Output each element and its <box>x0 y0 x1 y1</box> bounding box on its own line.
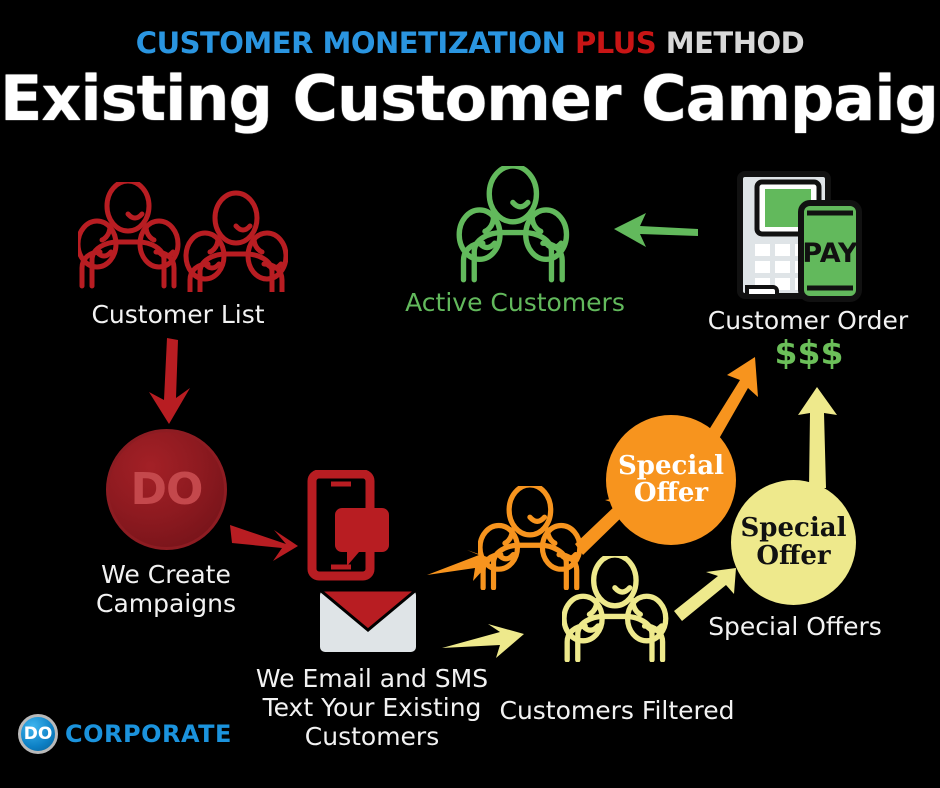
special-offers-caption: Special Offers <box>680 612 910 641</box>
arrow-offers-to-order <box>795 385 839 494</box>
special-offer-badge-yellow[interactable]: Special Offer <box>731 480 856 605</box>
badge-yellow-line-1: Special <box>741 515 847 542</box>
do-coin-badge: DO <box>106 429 227 550</box>
badge-orange-line-2: Offer <box>618 480 724 507</box>
email-sms-group <box>298 470 428 655</box>
badge-orange-line-1: Special <box>618 453 724 480</box>
arrow-order-to-active <box>610 205 700 255</box>
pos-terminal-icon: PAY <box>733 166 883 306</box>
people-green-icon <box>455 166 575 284</box>
logo-mark: DO <box>18 714 58 754</box>
kicker-segment-red: PLUS <box>575 26 666 60</box>
page-title: Existing Customer Campaigns <box>0 62 940 135</box>
email-sms-line-1: We Email and SMS <box>222 664 522 693</box>
infographic-canvas: CUSTOMER MONETIZATION PLUS METHOD Existi… <box>0 0 940 788</box>
do-corporate-logo[interactable]: DO CORPORATE <box>18 714 232 754</box>
phone-sms-envelope-icon <box>298 470 428 655</box>
customer-order-caption: Customer Order <box>688 306 928 335</box>
customer-list-caption: Customer List <box>58 300 298 329</box>
customer-list-group <box>78 182 288 292</box>
dollars-label: $$$ <box>766 333 852 372</box>
badge-yellow-line-2: Offer <box>741 543 847 570</box>
customer-order-group: PAY <box>733 166 883 306</box>
people-yellow-icon <box>562 556 672 662</box>
filtered-customers-group <box>562 556 672 662</box>
special-offer-badge-orange[interactable]: Special Offer <box>606 415 736 545</box>
email-sms-line-3: Customers <box>222 722 522 751</box>
kicker-segment-grey: METHOD <box>666 26 804 60</box>
customers-filtered-caption: Customers Filtered <box>477 696 757 725</box>
kicker-segment-blue: CUSTOMER MONETIZATION <box>136 26 575 60</box>
arrow-coin-to-phone <box>228 521 300 573</box>
we-create-line-2: Campaigns <box>66 589 266 618</box>
arrow-email-to-yellow <box>440 618 526 666</box>
pos-pay-label: PAY <box>802 238 858 269</box>
page-kicker: CUSTOMER MONETIZATION PLUS METHOD <box>0 26 940 60</box>
active-customers-caption: Active Customers <box>400 288 630 317</box>
people-red-icon <box>78 182 288 292</box>
arrow-list-to-coin <box>145 336 195 430</box>
do-coin-label: DO <box>131 464 203 515</box>
active-customers-group <box>455 166 575 284</box>
logo-wordmark: CORPORATE <box>65 720 232 748</box>
